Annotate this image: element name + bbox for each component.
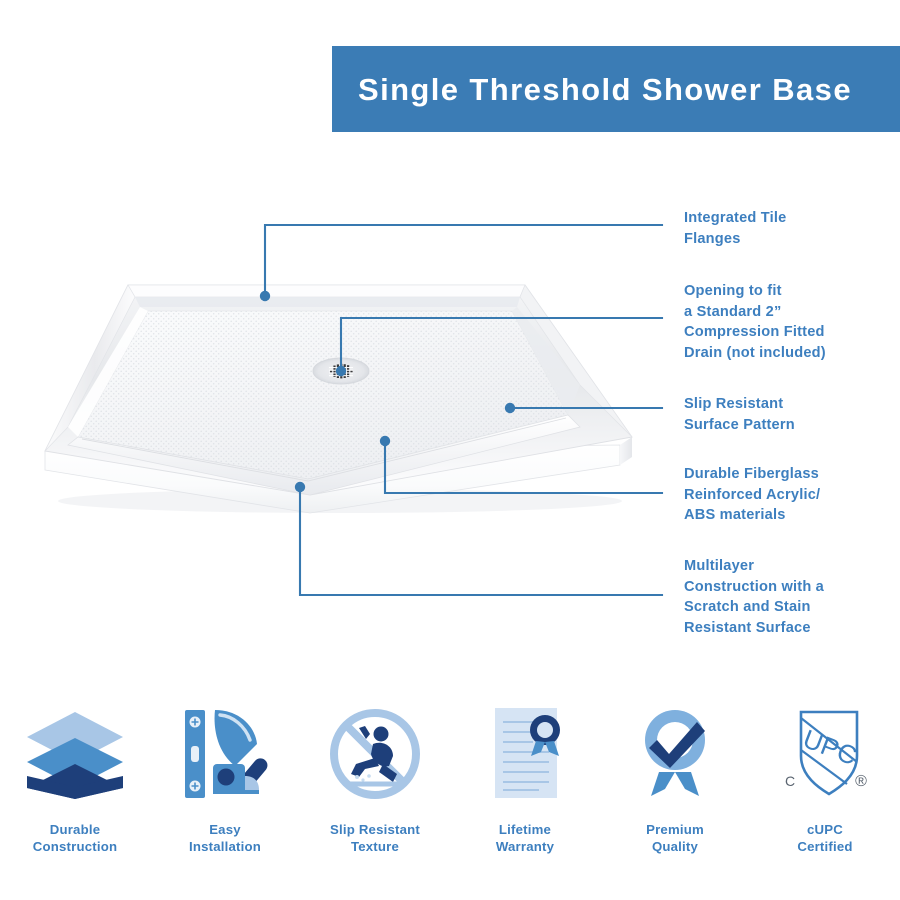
callout-integrated-tile-flanges: Integrated Tile Flanges: [684, 208, 786, 249]
certificate-icon: [470, 700, 580, 808]
callout-multilayer-construction: Multilayer Construction with a Scratch a…: [684, 556, 824, 639]
title-banner: Single Threshold Shower Base: [332, 46, 900, 132]
feature-label-premium-quality: Premium Quality: [646, 821, 704, 856]
shield-right-mark: ®: [855, 773, 867, 790]
feature-cupc-certified: UPC C ® cUPC Certified: [750, 700, 900, 875]
feature-label-slip-resistant: Slip Resistant Texture: [330, 821, 420, 856]
tools-icon: [170, 700, 280, 808]
feature-durable-construction: Durable Construction: [0, 700, 150, 875]
feature-label-easy-installation: Easy Installation: [189, 821, 261, 856]
callout-slip-resistant-surface-pattern: Slip Resistant Surface Pattern: [684, 394, 795, 435]
feature-label-cupc-certified: cUPC Certified: [797, 821, 852, 856]
no-slip-icon: [320, 700, 430, 808]
infographic-page: Single Threshold Shower Base: [0, 0, 900, 900]
feature-easy-installation: Easy Installation: [150, 700, 300, 875]
callout-drain-opening: Opening to fit a Standard 2” Compression…: [684, 281, 826, 364]
check-ribbon-icon: [620, 700, 730, 808]
back-flange-top: [128, 285, 525, 297]
product-illustration: [20, 255, 660, 535]
feature-badges-row: Durable Construction: [0, 700, 900, 875]
back-flange-shadow: [135, 297, 520, 307]
feature-slip-resistant: Slip Resistant Texture: [300, 700, 450, 875]
base-right-face: [620, 437, 632, 465]
shield-left-mark: C: [785, 773, 795, 789]
feature-lifetime-warranty: Lifetime Warranty: [450, 700, 600, 875]
feature-premium-quality: Premium Quality: [600, 700, 750, 875]
callout-durable-fiberglass: Durable Fiberglass Reinforced Acrylic/ A…: [684, 464, 820, 526]
upc-shield-icon: UPC C ®: [770, 700, 880, 808]
page-title: Single Threshold Shower Base: [358, 74, 852, 105]
feature-label-durable-construction: Durable Construction: [33, 821, 117, 856]
layers-icon: [20, 700, 130, 808]
feature-label-lifetime-warranty: Lifetime Warranty: [496, 821, 554, 856]
